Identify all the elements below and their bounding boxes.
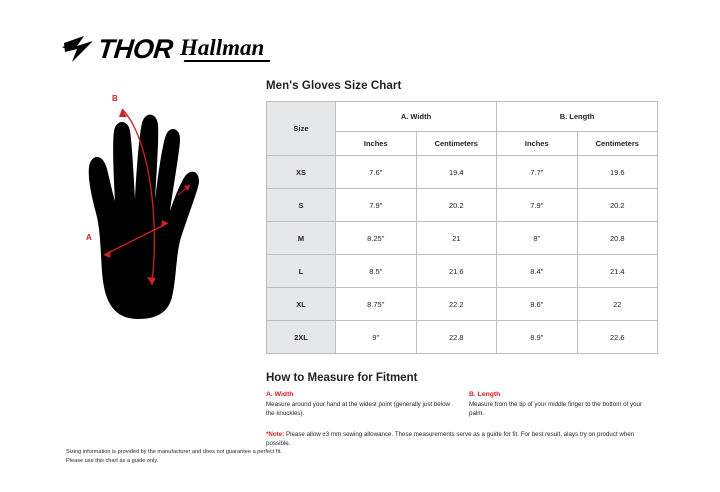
- header-size: Size: [267, 102, 336, 156]
- table-header-row-groups: Size A. Width B. Length: [267, 102, 658, 132]
- cell-length-inches: 7.9": [497, 189, 578, 222]
- cell-width-inches: 7.6": [336, 156, 417, 189]
- table-row: L 8.5" 21.6 8.4" 21.4: [267, 255, 658, 288]
- measure-width-block: A. Width Measure around your hand at the…: [266, 391, 455, 419]
- table-row: XL 8.75" 22.2 8.6" 22: [267, 288, 658, 321]
- table-row: M 8.25" 21 8" 20.8: [267, 222, 658, 255]
- footer-disclaimer: Sizing information is provided by the ma…: [66, 448, 282, 466]
- cell-width-inches: 8.75": [336, 288, 417, 321]
- thor-bolt-icon: [62, 34, 96, 64]
- measurement-note-label: *Note:: [266, 431, 284, 438]
- cell-size: XL: [267, 288, 336, 321]
- cell-width-centimeters: 21: [416, 222, 497, 255]
- size-chart-content: Men's Gloves Size Chart Size A. Width B.…: [266, 80, 658, 449]
- cell-length-inches: 8.4": [497, 255, 578, 288]
- cell-width-centimeters: 19.4: [416, 156, 497, 189]
- table-row: 2XL 9" 22.8 8.9" 22.6: [267, 321, 658, 354]
- header-length-centimeters: Centimeters: [577, 132, 658, 156]
- cell-width-centimeters: 22.8: [416, 321, 497, 354]
- cell-length-centimeters: 20.8: [577, 222, 658, 255]
- measurement-note-text: Please allow ±3 mm sewing allowance. The…: [266, 431, 634, 448]
- cell-size: S: [267, 189, 336, 222]
- cell-width-centimeters: 20.2: [416, 189, 497, 222]
- cell-width-inches: 8.25": [336, 222, 417, 255]
- cell-length-centimeters: 20.2: [577, 189, 658, 222]
- measurement-note: *Note: Please allow ±3 mm sewing allowan…: [266, 430, 656, 449]
- measure-length-text: Measure from the tip of your middle fing…: [469, 400, 658, 419]
- how-to-measure-columns: A. Width Measure around your hand at the…: [266, 391, 658, 419]
- table-head: Size A. Width B. Length Inches Centimete…: [267, 102, 658, 156]
- diagram-label-a: A: [86, 233, 92, 242]
- thor-logo: THOR: [62, 34, 173, 64]
- cell-length-inches: 7.7": [497, 156, 578, 189]
- hallman-logo: Hallman: [180, 36, 270, 62]
- header-length-inches: Inches: [497, 132, 578, 156]
- header-group-length: B. Length: [497, 102, 658, 132]
- how-to-measure-title: How to Measure for Fitment: [266, 372, 658, 384]
- measure-width-heading: A. Width: [266, 391, 455, 398]
- hand-silhouette-icon: [60, 95, 260, 325]
- diagram-label-b: B: [112, 94, 118, 103]
- header-width-centimeters: Centimeters: [416, 132, 497, 156]
- header-width-inches: Inches: [336, 132, 417, 156]
- cell-length-centimeters: 21.4: [577, 255, 658, 288]
- cell-size: M: [267, 222, 336, 255]
- cell-width-inches: 7.9": [336, 189, 417, 222]
- footer-line-1: Sizing information is provided by the ma…: [66, 448, 282, 457]
- cell-width-inches: 8.5": [336, 255, 417, 288]
- cell-width-centimeters: 21.6: [416, 255, 497, 288]
- cell-width-inches: 9": [336, 321, 417, 354]
- cell-length-centimeters: 22: [577, 288, 658, 321]
- cell-length-inches: 8": [497, 222, 578, 255]
- cell-length-inches: 8.6": [497, 288, 578, 321]
- cell-size: 2XL: [267, 321, 336, 354]
- cell-size: L: [267, 255, 336, 288]
- cell-length-centimeters: 19.6: [577, 156, 658, 189]
- hallman-wordmark: Hallman: [180, 36, 270, 59]
- measure-length-block: B. Length Measure from the tip of your m…: [469, 391, 658, 419]
- cell-width-centimeters: 22.2: [416, 288, 497, 321]
- cell-length-centimeters: 22.6: [577, 321, 658, 354]
- measure-width-text: Measure around your hand at the widest p…: [266, 400, 455, 419]
- cell-length-inches: 8.9": [497, 321, 578, 354]
- thor-wordmark: THOR: [97, 36, 174, 63]
- hand-measurement-diagram: B A: [60, 95, 260, 325]
- cell-size: XS: [267, 156, 336, 189]
- hallman-underline: [184, 60, 271, 62]
- table-row: S 7.9" 20.2 7.9" 20.2: [267, 189, 658, 222]
- header-group-width: A. Width: [336, 102, 497, 132]
- size-chart-table: Size A. Width B. Length Inches Centimete…: [266, 101, 658, 354]
- brand-logos: THOR Hallman: [58, 30, 278, 70]
- page-title: Men's Gloves Size Chart: [266, 80, 658, 92]
- measure-length-heading: B. Length: [469, 391, 658, 398]
- footer-line-2: Please use this chart as a guide only.: [66, 457, 282, 466]
- table-row: XS 7.6" 19.4 7.7" 19.6: [267, 156, 658, 189]
- table-body: XS 7.6" 19.4 7.7" 19.6 S 7.9" 20.2 7.9" …: [267, 156, 658, 354]
